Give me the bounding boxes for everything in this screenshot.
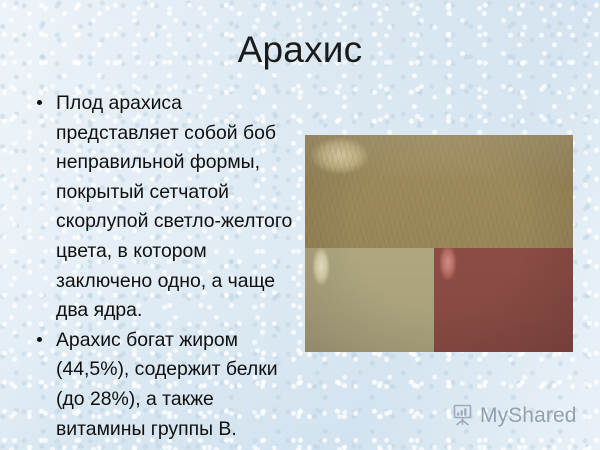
slide-body-text: Плод арахиса представляет собой боб непр…: [30, 89, 298, 444]
bullet-dot-icon: [37, 100, 42, 105]
bullet-text-fruit-description: Плод арахиса представляет собой боб непр…: [56, 89, 298, 326]
bullet-text-nutrition: Арахис богат жиром (44,5%), содержит бел…: [56, 326, 298, 444]
presentation-slide: Арахис Плод арахиса представляет собой б…: [0, 0, 600, 450]
photo-shading-overlay: [305, 135, 573, 352]
slide-title: Арахис: [0, 27, 600, 72]
bullet-dot-icon: [37, 337, 42, 342]
peanuts-photo: [305, 135, 573, 352]
watermark-label: MyShared: [480, 405, 577, 426]
bullet-item-nutrition: Арахис богат жиром (44,5%), содержит бел…: [30, 326, 298, 444]
bullet-item-fruit-description: Плод арахиса представляет собой боб непр…: [30, 89, 298, 326]
presentation-chart-icon: [452, 404, 473, 426]
watermark: MyShared: [452, 404, 577, 426]
